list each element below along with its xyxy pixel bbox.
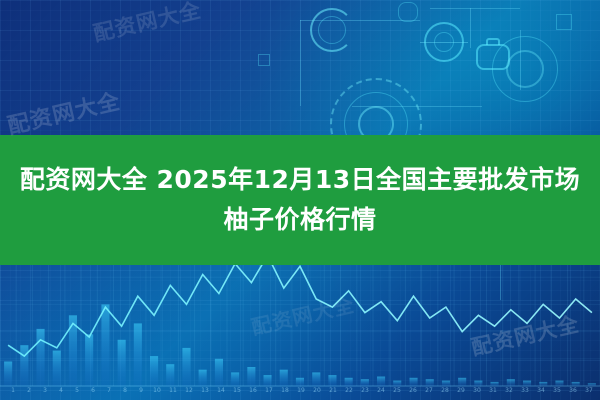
title-band: 配资网大全 2025年12月13日全国主要批发市场 柚子价格行情: [0, 135, 600, 265]
chart-x-tick: 15: [230, 387, 244, 399]
chart-x-tick: 22: [342, 387, 356, 399]
chart-x-tick: 12: [182, 387, 196, 399]
chart-x-tick: 2: [22, 387, 36, 399]
chart-x-tick: 11: [166, 387, 180, 399]
chart-x-tick: 33: [518, 387, 532, 399]
chart-x-tick: 3: [38, 387, 52, 399]
chart-x-tick: 28: [438, 387, 452, 399]
chart-x-tick: 23: [358, 387, 372, 399]
chart-line: [8, 255, 592, 356]
chart-x-tick: 30: [470, 387, 484, 399]
chart-x-tick: 36: [566, 387, 580, 399]
chart-x-tick: 20: [310, 387, 324, 399]
chart-x-tick: 1: [6, 387, 20, 399]
chart-x-tick: 18: [278, 387, 292, 399]
chart-x-tick: 31: [486, 387, 500, 399]
chart-x-tick: 32: [502, 387, 516, 399]
chart-x-axis-labels: 1234567891011121314151617181920212223242…: [6, 387, 596, 399]
briefcase-handle: [486, 38, 500, 45]
chart-x-tick: 17: [262, 387, 276, 399]
chart-x-tick: 9: [134, 387, 148, 399]
chart-x-tick: 13: [198, 387, 212, 399]
chart-x-tick: 37: [582, 387, 596, 399]
chart-x-tick: 19: [294, 387, 308, 399]
decor-top-layer: [0, 0, 600, 140]
chart-x-tick: 27: [422, 387, 436, 399]
chart-x-tick: 24: [374, 387, 388, 399]
image-canvas: $ 12345678910111213141516171819202122232…: [0, 0, 600, 400]
chart-x-tick: 21: [326, 387, 340, 399]
node-square: [398, 2, 418, 22]
chart-x-tick: 5: [70, 387, 84, 399]
chart-x-tick: 29: [454, 387, 468, 399]
title-line-2: 柚子价格行情: [223, 200, 376, 240]
title-line-1: 配资网大全 2025年12月13日全国主要批发市场: [20, 160, 580, 200]
chart-bars: [4, 304, 596, 386]
node-square: [258, 54, 270, 66]
chart-x-tick: 35: [550, 387, 564, 399]
connector-line: [430, 8, 520, 9]
hexagon-icon-inner: [506, 50, 544, 88]
chart-x-tick: 7: [102, 387, 116, 399]
chart-x-tick: 26: [406, 387, 420, 399]
target-crosshair: [420, 42, 468, 43]
chart-x-tick: 6: [86, 387, 100, 399]
node-square: [556, 14, 572, 30]
ring-icon: [318, 16, 346, 44]
chart-x-tick: 16: [246, 387, 260, 399]
chart-x-tick: 8: [118, 387, 132, 399]
chart-x-tick: 10: [150, 387, 164, 399]
chart-x-tick: 4: [54, 387, 68, 399]
connector-line: [470, 8, 471, 48]
connector-line: [300, 20, 301, 106]
chart-x-tick: 25: [390, 387, 404, 399]
chart-x-tick: 14: [214, 387, 228, 399]
chart-x-tick: 34: [534, 387, 548, 399]
